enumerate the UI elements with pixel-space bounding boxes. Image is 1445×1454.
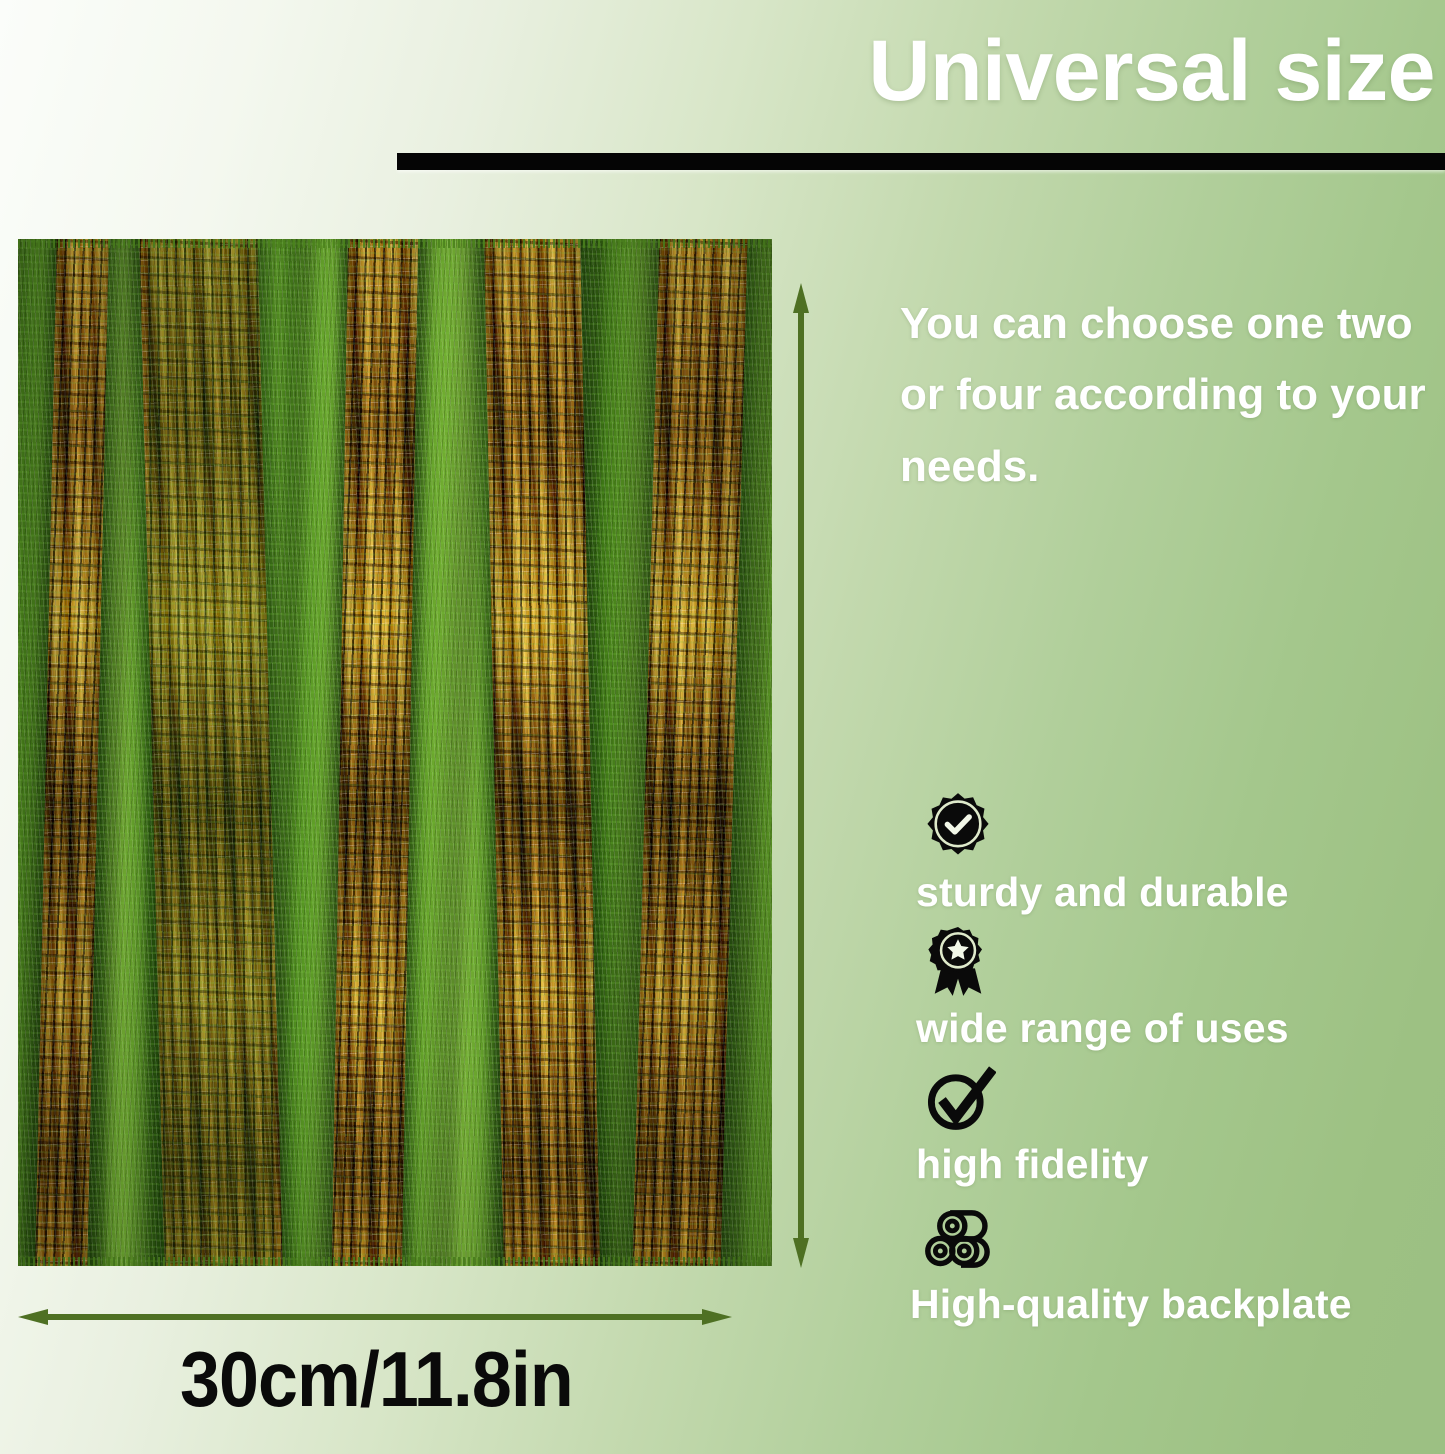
badge-check-icon — [924, 792, 1436, 865]
feature-item-sturdy: sturdy and durable — [916, 792, 1436, 916]
title-divider — [397, 153, 1445, 170]
feature-label-backplate: High-quality backplate — [910, 1281, 1436, 1328]
feature-label-wide-range: wide range of uses — [916, 1005, 1436, 1052]
moss-vignette — [18, 239, 772, 1266]
width-dimension-arrow — [18, 1308, 732, 1326]
width-dimension-label: 30cm/11.8in — [180, 1334, 573, 1425]
page-title: Universal size — [400, 26, 1435, 116]
award-ribbon-icon — [924, 926, 1436, 1003]
feature-item-wide-range: wide range of uses — [916, 926, 1436, 1052]
height-dimension-arrow — [792, 283, 810, 1268]
feature-label-high-fidelity: high fidelity — [916, 1141, 1436, 1188]
description-text: You can choose one two or four according… — [900, 288, 1430, 502]
feature-label-sturdy: sturdy and durable — [916, 869, 1436, 916]
infographic-page: Universal size 40cm/15.7in 30cm/11.8in Y… — [0, 0, 1445, 1454]
stacked-logs-icon — [924, 1204, 1436, 1279]
feature-list: sturdy and durable wide range of uses — [916, 792, 1436, 1334]
product-image — [18, 239, 772, 1266]
feature-item-backplate: High-quality backplate — [916, 1204, 1436, 1328]
circle-check-icon — [924, 1066, 1436, 1139]
feature-item-high-fidelity: high fidelity — [916, 1066, 1436, 1188]
